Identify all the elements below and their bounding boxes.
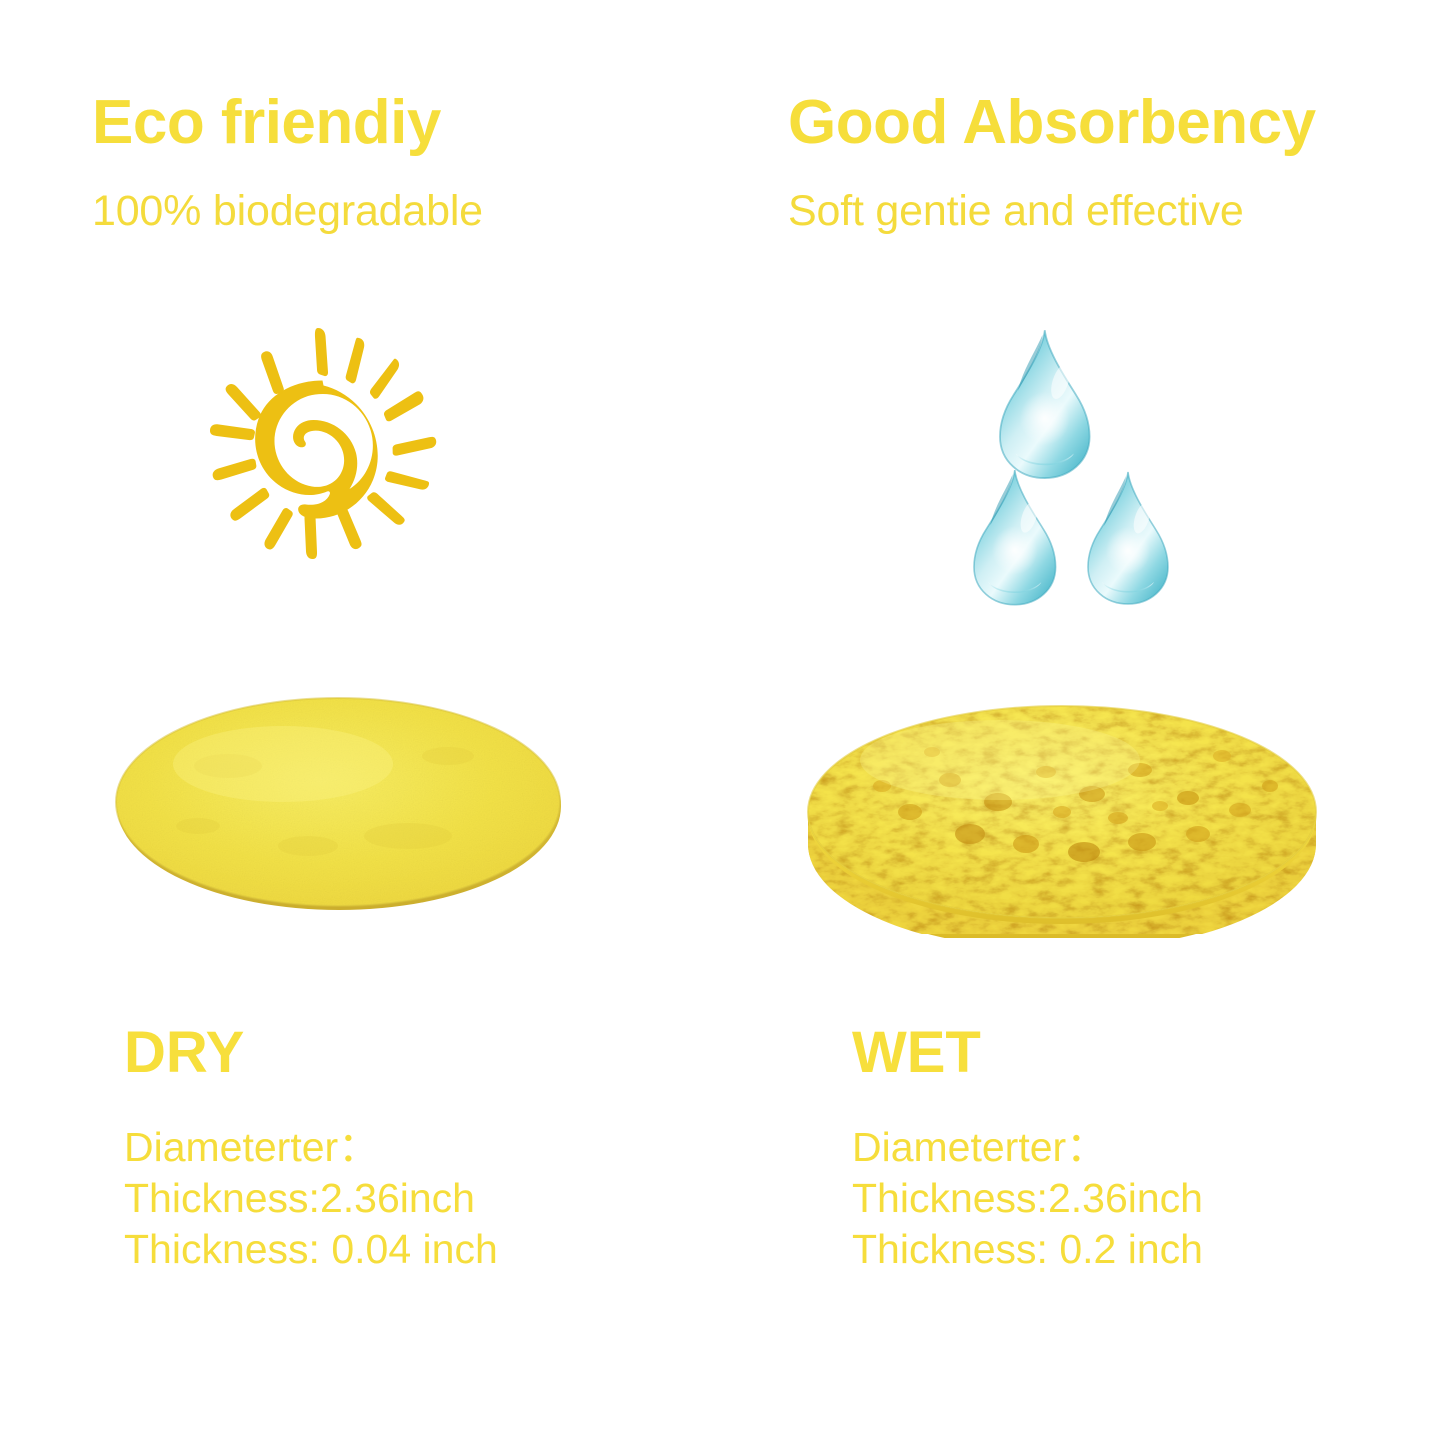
product-infographic: Eco friendiy 100% biodegradable xyxy=(0,0,1445,1445)
wet-sponge-disc-image xyxy=(800,694,1324,938)
wet-spec-diameter: Diameterter： xyxy=(852,1122,1203,1173)
sun-icon xyxy=(196,318,448,570)
wet-state-label: WET xyxy=(852,1024,981,1082)
dry-spec-size: Thickness:2.36inch xyxy=(124,1173,498,1224)
water-droplets-icon xyxy=(960,320,1210,610)
good-absorbency-subheading: Soft gentie and effective xyxy=(788,190,1244,233)
eco-friendly-subheading: 100% biodegradable xyxy=(92,190,483,233)
dry-spec-thickness: Thickness: 0.04 inch xyxy=(124,1224,498,1275)
dry-state-label: DRY xyxy=(124,1024,244,1082)
dry-spec-list: Diameterter： Thickness:2.36inch Thicknes… xyxy=(124,1122,498,1275)
water-droplet-top xyxy=(1000,330,1090,478)
wet-spec-size: Thickness:2.36inch xyxy=(852,1173,1203,1224)
wet-spec-list: Diameterter： Thickness:2.36inch Thicknes… xyxy=(852,1122,1203,1275)
wet-spec-thickness: Thickness: 0.2 inch xyxy=(852,1224,1203,1275)
good-absorbency-heading: Good Absorbency xyxy=(788,92,1316,154)
water-droplet-bottom-left xyxy=(974,470,1056,605)
dry-sponge-disc-image xyxy=(108,686,568,918)
dry-spec-diameter: Diameterter： xyxy=(124,1122,498,1173)
eco-friendly-heading: Eco friendiy xyxy=(92,92,441,154)
water-droplet-bottom-right xyxy=(1088,472,1168,604)
